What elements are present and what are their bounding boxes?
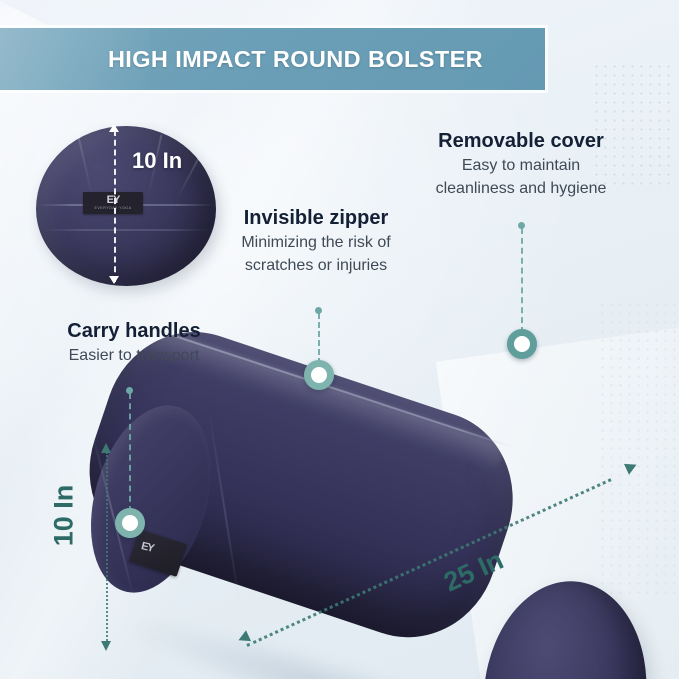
- brand-monogram-main: EY: [140, 540, 154, 554]
- callout-invisible-zipper-title: Invisible zipper: [208, 205, 424, 231]
- leader-line-carry-handles: [129, 393, 131, 512]
- dot-pattern-bottom-right: [598, 300, 678, 600]
- height-dimension-label: 10 In: [48, 485, 79, 547]
- round-bolster-end-image: EY EVERYDAY YOGA 10 In: [36, 126, 216, 286]
- diameter-dimension-label: 10 In: [132, 148, 182, 174]
- callout-removable-cover-desc-line2: cleanliness and hygiene: [398, 177, 644, 200]
- callout-carry-handles-title: Carry handles: [30, 318, 238, 344]
- brand-name: EVERYDAY YOGA: [95, 205, 132, 211]
- callout-removable-cover-title: Removable cover: [398, 128, 644, 154]
- brand-monogram: EY: [107, 195, 120, 205]
- diameter-dimension-line: [114, 130, 116, 282]
- callout-invisible-zipper: Invisible zipper Minimizing the risk of …: [208, 205, 424, 277]
- callout-carry-handles: Carry handles Easier to transport: [30, 318, 238, 367]
- leader-line-removable-cover: [521, 228, 523, 333]
- callout-invisible-zipper-desc-line2: scratches or injuries: [208, 254, 424, 277]
- callout-invisible-zipper-desc-line1: Minimizing the risk of: [208, 231, 424, 254]
- callout-removable-cover: Removable cover Easy to maintain cleanli…: [398, 128, 644, 200]
- arrow-down-icon: [109, 276, 119, 284]
- arrow-down-icon-height: [101, 641, 111, 651]
- round-bolster-seam-lower: [42, 229, 210, 231]
- header-banner: HIGH IMPACT ROUND BOLSTER: [0, 28, 545, 90]
- callout-removable-cover-desc-line1: Easy to maintain: [398, 154, 644, 177]
- height-dimension-line: [106, 452, 108, 644]
- marker-ring-carry-handles[interactable]: [115, 508, 145, 538]
- brand-label-round: EY EVERYDAY YOGA: [83, 192, 143, 214]
- marker-ring-removable-cover[interactable]: [507, 329, 537, 359]
- banner-title: HIGH IMPACT ROUND BOLSTER: [62, 46, 483, 73]
- marker-ring-invisible-zipper[interactable]: [304, 360, 334, 390]
- product-infographic: HIGH IMPACT ROUND BOLSTER EY EVERYDAY YO…: [0, 0, 679, 679]
- leader-line-invisible-zipper: [318, 313, 320, 364]
- callout-carry-handles-desc-line1: Easier to transport: [30, 344, 238, 367]
